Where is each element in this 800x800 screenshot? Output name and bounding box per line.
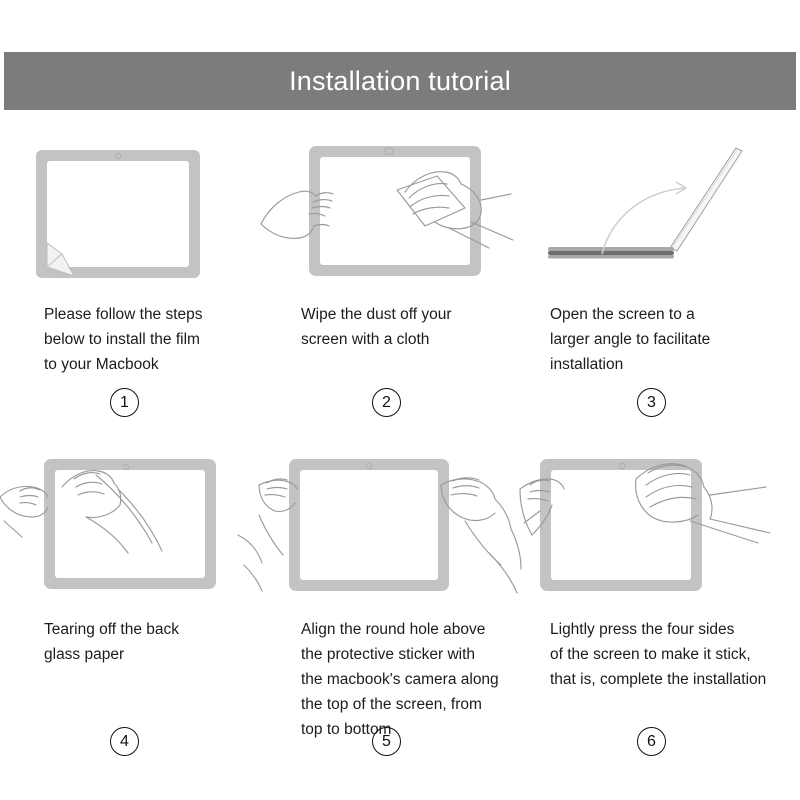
step-1-caption: Please follow the steps below to install…: [44, 302, 274, 377]
laptop-side-view-open-lid-arrow-icon: [520, 130, 786, 290]
step-number-badge-3: 3: [637, 388, 666, 417]
step-number-badge-4: 4: [110, 727, 139, 756]
step-card-4: Tearing off the back glass paper 4: [0, 445, 266, 765]
step-5-illustration: [259, 445, 525, 605]
step-4-caption: Tearing off the back glass paper: [44, 617, 274, 667]
steps-grid: Please follow the steps below to install…: [0, 130, 800, 770]
two-hands-aligning-film-on-screen-icon: [259, 445, 525, 605]
step-6-caption: Lightly press the four sides of the scre…: [550, 617, 790, 692]
step-2-caption: Wipe the dust off your screen with a clo…: [301, 302, 531, 352]
step-number-2: 2: [382, 395, 391, 411]
step-3-illustration: [520, 130, 786, 290]
header-banner: Installation tutorial: [4, 52, 796, 110]
step-number-badge-2: 2: [372, 388, 401, 417]
step-3-caption: Open the screen to a larger angle to fac…: [550, 302, 790, 377]
step-card-6: Lightly press the four sides of the scre…: [520, 445, 786, 765]
hand-pressing-screen-edges-icon: [520, 445, 786, 605]
tutorial-page: Installation tutorial Please follow the …: [0, 0, 800, 800]
step-6-illustration: [520, 445, 786, 605]
step-card-2: Wipe the dust off your screen with a clo…: [259, 130, 525, 450]
step-number-6: 6: [647, 734, 656, 750]
screen-with-peeling-film-corner-icon: [0, 130, 266, 290]
hands-wiping-screen-with-cloth-icon: [259, 130, 525, 290]
step-number-5: 5: [382, 734, 391, 750]
step-number-badge-1: 1: [110, 388, 139, 417]
step-card-3: Open the screen to a larger angle to fac…: [520, 130, 786, 450]
step-5-caption: Align the round hole above the protectiv…: [301, 617, 531, 743]
step-number-badge-6: 6: [637, 727, 666, 756]
step-number-1: 1: [120, 395, 129, 411]
step-number-3: 3: [647, 395, 656, 411]
hands-peeling-back-paper-from-screen-icon: [0, 445, 266, 605]
step-card-1: Please follow the steps below to install…: [0, 130, 266, 450]
step-number-4: 4: [120, 734, 129, 750]
page-title: Installation tutorial: [289, 68, 511, 95]
step-2-illustration: [259, 130, 525, 290]
step-card-5: Align the round hole above the protectiv…: [259, 445, 525, 765]
step-1-illustration: [0, 130, 266, 290]
step-4-illustration: [0, 445, 266, 605]
step-number-badge-5: 5: [372, 727, 401, 756]
